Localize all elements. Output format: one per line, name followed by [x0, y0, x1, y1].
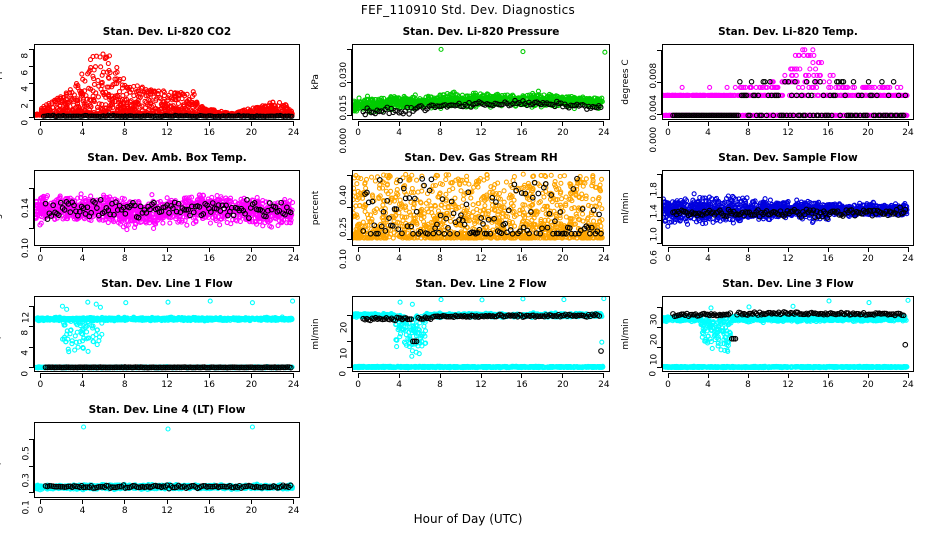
x-tick-label: 8 — [113, 254, 137, 264]
x-tick-label: 12 — [776, 128, 800, 138]
x-tick-label: 8 — [428, 254, 452, 264]
x-axis-line — [358, 373, 604, 374]
y-axis-line — [351, 316, 352, 368]
y-axis-line — [33, 188, 34, 228]
x-tick-label: 24 — [896, 128, 920, 138]
x-tick-label: 20 — [551, 380, 575, 390]
x-tick-label: 0 — [656, 254, 680, 264]
x-tick-label: 0 — [28, 380, 52, 390]
x-tick-label: 0 — [346, 128, 370, 138]
x-tick-label: 24 — [282, 380, 306, 390]
x-tick-label: 24 — [896, 380, 920, 390]
panel-title-4: Stan. Dev. Amb. Box Temp. — [34, 152, 300, 164]
x-tick-label: 12 — [469, 128, 493, 138]
x-tick-label: 24 — [896, 254, 920, 264]
x-tick-label: 16 — [816, 128, 840, 138]
panel-title-1: Stan. Dev. Li-820 CO2 — [34, 26, 300, 38]
panel-title-5: Stan. Dev. Gas Stream RH — [352, 152, 610, 164]
plot-area-8 — [352, 296, 610, 372]
y-axis-line — [33, 50, 34, 117]
panel-title-9: Stan. Dev. Line 3 Flow — [662, 278, 914, 290]
panel-5: Stan. Dev. Gas Stream RH0.100.250.40perc… — [306, 152, 624, 274]
scatter-points-8 — [353, 297, 610, 372]
x-tick-label: 8 — [428, 128, 452, 138]
x-tick-label: 16 — [510, 380, 534, 390]
panel-title-6: Stan. Dev. Sample Flow — [662, 152, 914, 164]
x-axis-line — [358, 247, 604, 248]
x-tick-label: 0 — [346, 380, 370, 390]
panel-title-8: Stan. Dev. Line 2 Flow — [352, 278, 610, 290]
panel-title-10: Stan. Dev. Line 4 (LT) Flow — [34, 404, 300, 416]
x-tick-label: 4 — [387, 254, 411, 264]
x-tick-label: 20 — [239, 254, 263, 264]
panel-title-3: Stan. Dev. Li-820 Temp. — [662, 26, 914, 38]
x-tick-label: 4 — [387, 380, 411, 390]
x-axis-line — [40, 499, 293, 500]
x-tick-label: 16 — [197, 254, 221, 264]
x-tick-label: 24 — [282, 128, 306, 138]
x-tick-label: 12 — [776, 254, 800, 264]
plot-area-5 — [352, 170, 610, 246]
y-axis-line — [351, 49, 352, 115]
x-tick-label: 0 — [656, 128, 680, 138]
x-tick-label: 24 — [282, 506, 306, 516]
plot-area-7 — [34, 296, 300, 372]
x-tick-label: 20 — [551, 254, 575, 264]
x-tick-label: 12 — [155, 254, 179, 264]
plot-area-2 — [352, 44, 610, 120]
plot-area-9 — [662, 296, 914, 372]
panel-9: Stan. Dev. Line 3 Flow0102030ml/min04812… — [616, 278, 928, 400]
x-tick-label: 0 — [346, 254, 370, 264]
y-axis-line — [661, 308, 662, 368]
x-tick-label: 0 — [28, 254, 52, 264]
plot-area-10 — [34, 422, 300, 498]
y-axis-label: degrees C — [0, 185, 3, 230]
x-tick-label: 8 — [113, 128, 137, 138]
x-tick-label: 16 — [197, 380, 221, 390]
panel-2: Stan. Dev. Li-820 Pressure0.0000.0150.03… — [306, 26, 624, 148]
y-axis-label: ml/min — [621, 318, 631, 349]
panel-6: Stan. Dev. Sample Flow0.61.01.41.8ml/min… — [616, 152, 928, 274]
y-axis-line — [661, 50, 662, 114]
panel-title-2: Stan. Dev. Li-820 Pressure — [352, 26, 610, 38]
panel-3: Stan. Dev. Li-820 Temp.0.0000.0040.008de… — [616, 26, 928, 148]
x-tick-label: 24 — [282, 254, 306, 264]
x-tick-label: 24 — [592, 254, 616, 264]
y-axis-line — [33, 439, 34, 492]
scatter-points-5 — [353, 171, 610, 246]
x-tick-label: 24 — [592, 380, 616, 390]
x-tick-label: 24 — [592, 128, 616, 138]
x-tick-label: 8 — [113, 506, 137, 516]
x-tick-label: 0 — [28, 128, 52, 138]
x-tick-label: 4 — [71, 128, 95, 138]
panel-title-7: Stan. Dev. Line 1 Flow — [34, 278, 300, 290]
scatter-points-2 — [353, 45, 610, 120]
x-tick-label: 4 — [696, 128, 720, 138]
panel-10: Stan. Dev. Line 4 (LT) Flow0.10.30.5ml/m… — [0, 404, 314, 526]
y-axis-label: ml/min — [0, 318, 3, 349]
x-axis-line — [40, 121, 293, 122]
x-tick-label: 16 — [510, 254, 534, 264]
x-tick-label: 12 — [776, 380, 800, 390]
x-axis-line — [40, 373, 293, 374]
x-axis-line — [668, 247, 908, 248]
x-tick-label: 16 — [816, 380, 840, 390]
panel-1: Stan. Dev. Li-820 CO202468Licor ppm04812… — [0, 26, 314, 148]
x-tick-label: 12 — [469, 380, 493, 390]
y-axis-label: percent — [311, 191, 321, 225]
y-axis-line — [351, 175, 352, 239]
x-tick-label: 12 — [155, 506, 179, 516]
x-tick-label: 4 — [387, 128, 411, 138]
panel-8: Stan. Dev. Line 2 Flow01020ml/min0481216… — [306, 278, 624, 400]
x-tick-label: 8 — [736, 380, 760, 390]
panel-4: Stan. Dev. Amb. Box Temp.0.100.14degrees… — [0, 152, 314, 274]
x-tick-label: 4 — [696, 380, 720, 390]
x-tick-label: 0 — [28, 506, 52, 516]
x-tick-label: 4 — [71, 254, 95, 264]
scatter-points-3 — [663, 45, 914, 120]
scatter-points-10 — [35, 423, 300, 498]
x-axis-line — [358, 121, 604, 122]
y-axis-label: ml/min — [621, 192, 631, 223]
y-axis-label: Licor ppm — [0, 60, 3, 105]
y-axis-line — [33, 306, 34, 368]
figure-canvas: FEF_110910 Std. Dev. Diagnostics Hour of… — [0, 0, 936, 540]
x-tick-label: 20 — [239, 506, 263, 516]
x-tick-label: 12 — [155, 380, 179, 390]
scatter-points-1 — [35, 45, 300, 120]
scatter-points-6 — [663, 171, 914, 246]
x-tick-label: 16 — [197, 506, 221, 516]
y-axis-label: ml/min — [311, 318, 321, 349]
plot-area-6 — [662, 170, 914, 246]
x-tick-label: 12 — [469, 254, 493, 264]
x-tick-label: 8 — [736, 254, 760, 264]
x-axis-line — [668, 373, 908, 374]
x-axis-line — [40, 247, 293, 248]
x-tick-label: 20 — [551, 128, 575, 138]
y-axis-label: ml/min — [0, 444, 3, 475]
figure-main-title: FEF_110910 Std. Dev. Diagnostics — [0, 3, 936, 17]
y-axis-line — [661, 175, 662, 244]
x-tick-label: 0 — [656, 380, 680, 390]
y-axis-label: kPa — [311, 74, 321, 90]
x-tick-label: 8 — [736, 128, 760, 138]
scatter-points-9 — [663, 297, 914, 372]
x-tick-label: 20 — [856, 380, 880, 390]
x-tick-label: 20 — [239, 380, 263, 390]
plot-area-1 — [34, 44, 300, 120]
x-tick-label: 8 — [113, 380, 137, 390]
panel-7: Stan. Dev. Line 1 Flow04812ml/min0481216… — [0, 278, 314, 400]
x-axis-line — [668, 121, 908, 122]
scatter-points-7 — [35, 297, 300, 372]
x-tick-label: 20 — [239, 128, 263, 138]
x-tick-label: 16 — [197, 128, 221, 138]
x-tick-label: 12 — [155, 128, 179, 138]
x-tick-label: 20 — [856, 254, 880, 264]
plot-area-3 — [662, 44, 914, 120]
x-tick-label: 4 — [71, 380, 95, 390]
x-tick-label: 16 — [510, 128, 534, 138]
x-tick-label: 4 — [71, 506, 95, 516]
y-axis-label: degrees C — [621, 59, 631, 104]
x-tick-label: 16 — [816, 254, 840, 264]
x-tick-label: 4 — [696, 254, 720, 264]
scatter-points-4 — [35, 171, 300, 246]
x-tick-label: 20 — [856, 128, 880, 138]
plot-area-4 — [34, 170, 300, 246]
x-tick-label: 8 — [428, 380, 452, 390]
